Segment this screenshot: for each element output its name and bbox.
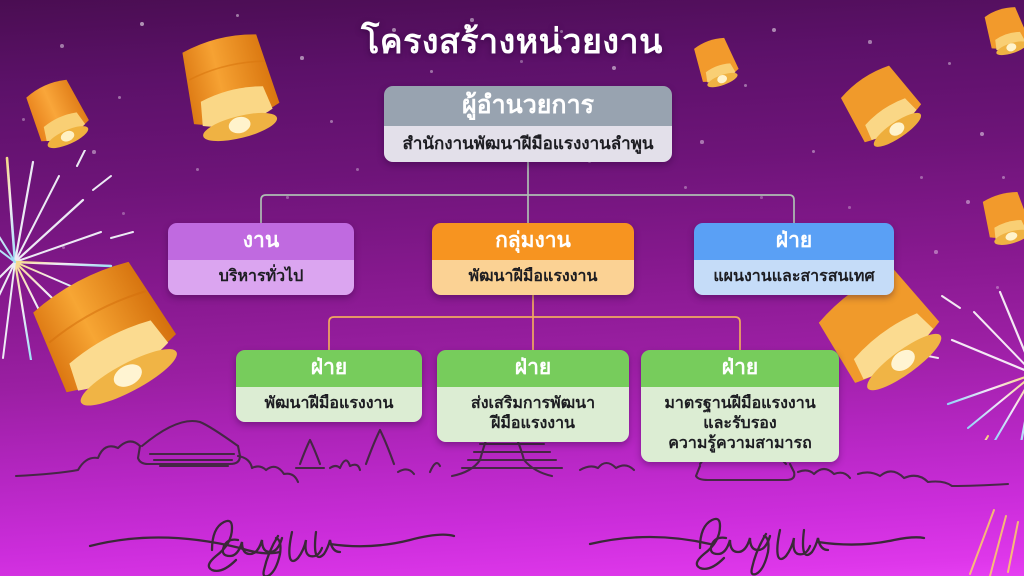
sky-lantern-1 [15, 69, 103, 165]
sparkle-dot [700, 140, 704, 144]
sparkle-dot [22, 118, 25, 121]
sparkle-dot [760, 196, 763, 199]
sparkle-dot [122, 212, 125, 215]
org-node-general-administration[interactable]: งาน บริหารทั่วไป [168, 223, 354, 295]
org-node-skill-development-division-head: ฝ่าย [236, 350, 422, 387]
org-node-skill-promotion-division-body: ส่งเสริมการพัฒนา ฝีมือแรงงาน [437, 387, 629, 442]
org-node-general-administration-head: งาน [168, 223, 354, 260]
sparkle-dot [196, 168, 199, 171]
sparkle-dot [286, 196, 289, 199]
slide-canvas: โครงสร้างหน่วยงาน ผู้อำนวยการ สำนักงานพั… [0, 0, 1024, 576]
org-node-planning-information-body: แผนงานและสารสนเทศ [694, 260, 894, 295]
org-node-skill-standard-division-head: ฝ่าย [641, 350, 839, 387]
org-node-skill-standard-division-body: มาตรฐานฝีมือแรงงาน และรับรอง ความรู้ความ… [641, 387, 839, 462]
sparkle-dot [62, 246, 65, 249]
sparkle-dot [330, 120, 333, 123]
sparkle-dot [812, 150, 815, 153]
org-node-skill-development-division-body: พัฒนาฝีมือแรงงาน [236, 387, 422, 422]
org-node-general-administration-body: บริหารทั่วไป [168, 260, 354, 295]
org-node-director-body: สำนักงานพัฒนาฝีมือแรงงานลำพูน [384, 126, 672, 162]
sparkle-dot [920, 176, 923, 179]
sparkle-dot [966, 200, 970, 204]
firework-burst-right [918, 270, 1024, 440]
org-node-director-head: ผู้อำนวยการ [384, 86, 672, 126]
sparkle-dot [744, 84, 747, 87]
org-node-skill-promotion-division[interactable]: ฝ่าย ส่งเสริมการพัฒนา ฝีมือแรงงาน [437, 350, 629, 442]
org-node-planning-information-head: ฝ่าย [694, 223, 894, 260]
sparkle-dot [258, 128, 261, 131]
org-node-skill-promotion-division-head: ฝ่าย [437, 350, 629, 387]
sparkle-dot [430, 70, 433, 73]
sparkle-dot [1002, 176, 1005, 179]
sparkle-dot [904, 108, 908, 112]
sparkle-dot [934, 250, 938, 254]
sky-lantern-8 [974, 184, 1024, 257]
firework-burst-left [0, 150, 160, 360]
sky-lantern-4 [828, 53, 940, 166]
org-node-skill-development-group-head: กลุ่มงาน [432, 223, 634, 260]
sparkle-dot [996, 286, 999, 289]
firework-burst-bottom-right [960, 500, 1024, 576]
org-node-planning-information[interactable]: ฝ่าย แผนงานและสารสนเทศ [694, 223, 894, 295]
page-title: โครงสร้างหน่วยงาน [0, 14, 1024, 68]
sparkle-dot [684, 186, 687, 189]
org-node-director[interactable]: ผู้อำนวยการ สำนักงานพัฒนาฝีมือแรงงานลำพู… [384, 86, 672, 162]
sparkle-dot [848, 206, 851, 209]
sparkle-dot [980, 132, 984, 136]
org-node-skill-standard-division[interactable]: ฝ่าย มาตรฐานฝีมือแรงงาน และรับรอง ความรู… [641, 350, 839, 462]
org-node-skill-development-group[interactable]: กลุ่มงาน พัฒนาฝีมือแรงงาน [432, 223, 634, 295]
org-node-skill-development-division[interactable]: ฝ่าย พัฒนาฝีมือแรงงาน [236, 350, 422, 422]
sparkle-dot [118, 96, 121, 99]
org-node-skill-development-group-body: พัฒนาฝีมือแรงงาน [432, 260, 634, 295]
sparkle-dot [92, 150, 96, 154]
sparkle-dot [356, 168, 359, 171]
